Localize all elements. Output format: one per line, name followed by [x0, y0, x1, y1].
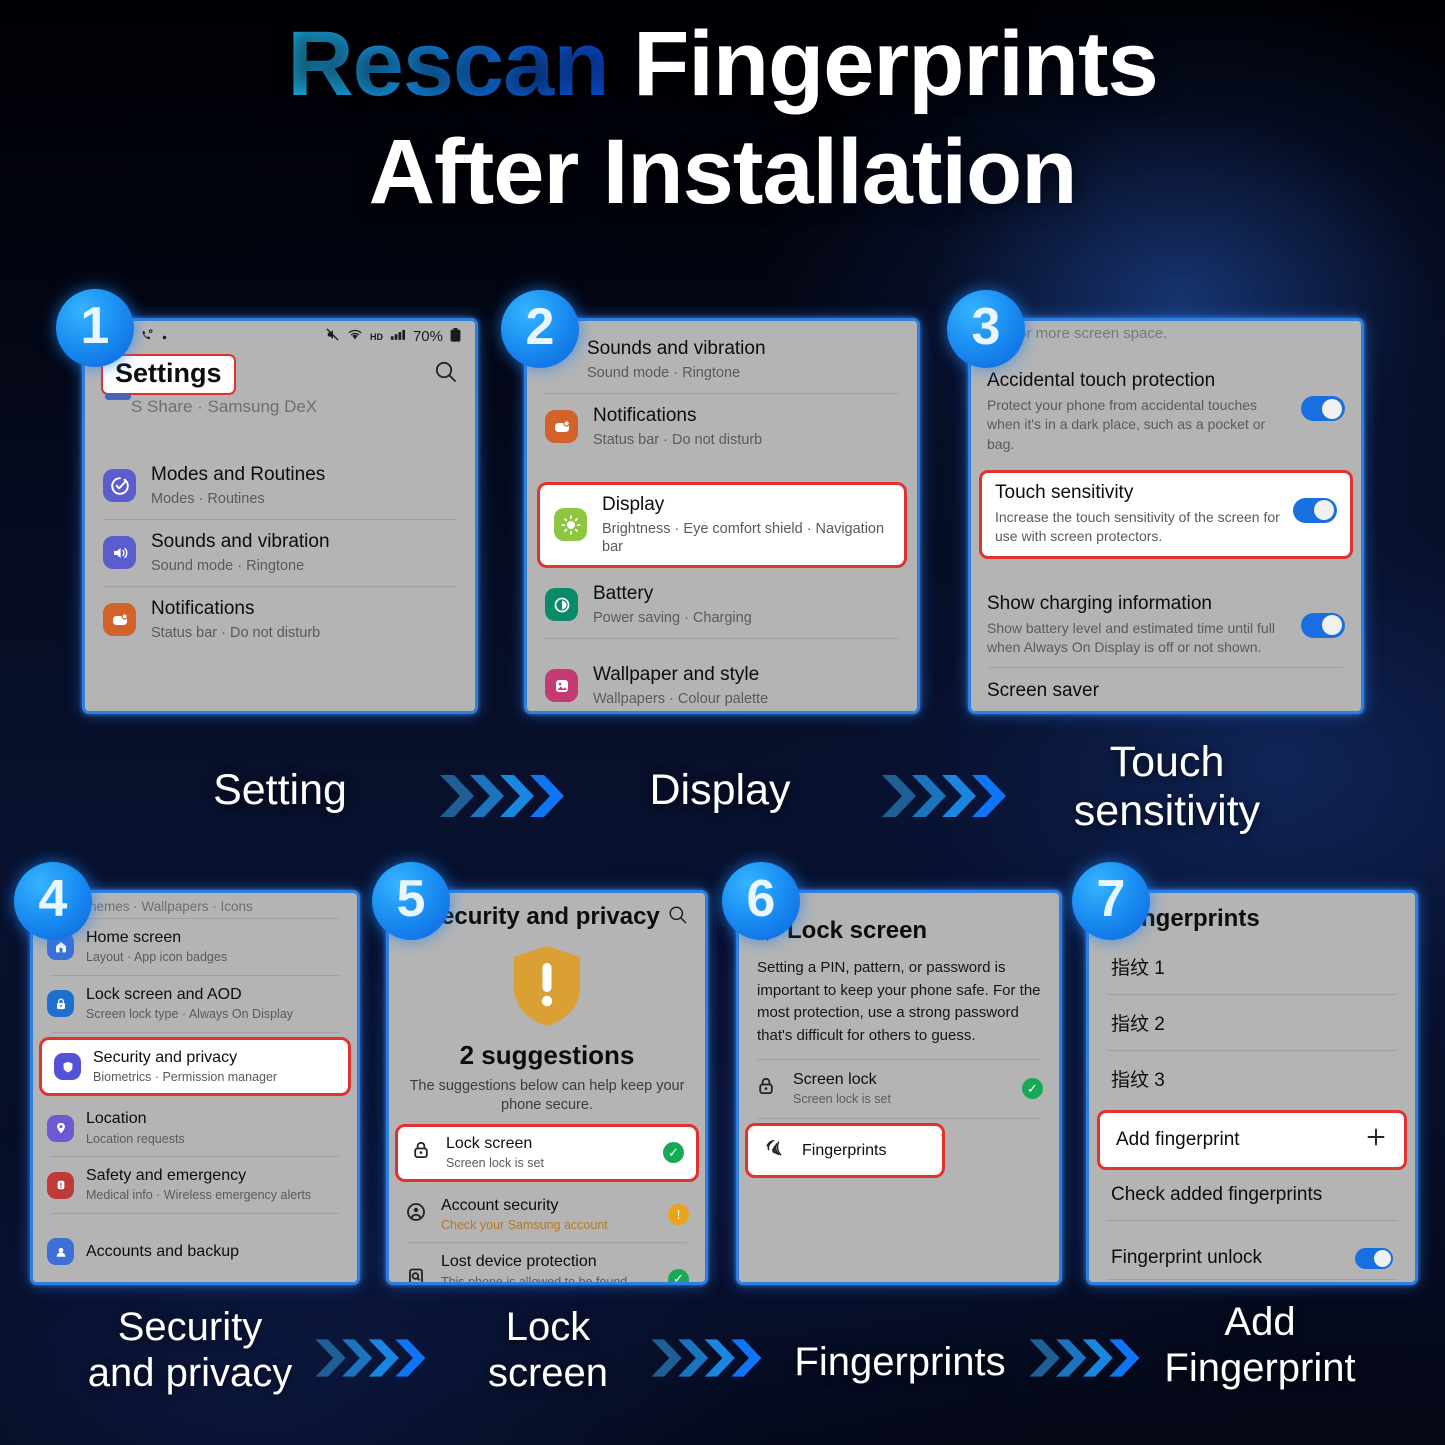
row-subtitle: Wallpapers · Colour palette	[593, 690, 899, 708]
add-fingerprint-label: Add fingerprint	[1116, 1129, 1240, 1151]
settings-row-notifications[interactable]: Notifications Status bar · Do not distur…	[85, 587, 475, 653]
row-title: Lock screen	[446, 1134, 649, 1153]
row-fingerprints-highlighted[interactable]: Fingerprints	[745, 1123, 945, 1178]
faded-row-label: S Share · Samsung DeX	[103, 397, 475, 417]
check-added-fingerprints-label: Check added fingerprints	[1111, 1184, 1322, 1206]
settings-row-modes[interactable]: Modes and Routines Modes · Routines	[85, 453, 475, 519]
row-subtitle: This phone is allowed to be found when l…	[441, 1275, 654, 1286]
fingerprint-icon	[762, 1136, 786, 1165]
row-subtitle: Screen lock type · Always On Display	[86, 1007, 343, 1023]
shield-icon	[54, 1053, 81, 1080]
settings-row-accounts-backup[interactable]: Accounts and backup	[33, 1232, 357, 1271]
partial-app-icon	[105, 393, 131, 400]
row-title: Screen lock	[793, 1070, 1006, 1089]
flow-arrow-1	[436, 767, 576, 825]
settings-row-lock-screen-aod[interactable]: Lock screen and AOD Screen lock type · A…	[33, 976, 357, 1032]
status-check-icon: ✓	[663, 1142, 684, 1163]
flow-arrow-4	[648, 1332, 772, 1384]
poster-title: Rescan Fingerprints After Installation	[0, 18, 1445, 218]
flow-label-add-fingerprint: Add Fingerprint	[1130, 1300, 1390, 1391]
fingerprint-item-1[interactable]: 指纹 1	[1089, 939, 1415, 994]
row-subtitle: Protect your phone from accidental touch…	[987, 396, 1289, 454]
row-subtitle: Check your Samsung account	[441, 1218, 654, 1234]
plus-icon[interactable]	[1364, 1125, 1388, 1155]
search-icon[interactable]	[667, 904, 689, 931]
row-title: Home screen	[86, 928, 343, 947]
find-device-icon	[405, 1266, 427, 1285]
screenshot-panel-3: res for more screen space. Accidental to…	[968, 318, 1364, 714]
suggestions-title: 2 suggestions	[403, 1040, 691, 1071]
settings-row-sounds[interactable]: Sounds and vibration Sound mode · Ringto…	[85, 520, 475, 586]
status-check-icon: ✓	[668, 1269, 689, 1285]
status-bar: HD 70%	[85, 321, 475, 348]
page-title: Settings	[101, 354, 236, 395]
row-title: Sounds and vibration	[151, 531, 457, 554]
step-badge-3: 3	[947, 290, 1025, 368]
flow-label-fingerprints: Fingerprints	[780, 1340, 1020, 1386]
settings-row-display-highlighted[interactable]: Display Brightness · Eye comfort shield …	[537, 482, 907, 568]
row-title: Security and privacy	[93, 1048, 336, 1067]
row-subtitle: Screen lock is set	[793, 1092, 1006, 1108]
poster-background: Rescan Fingerprints After Installation	[0, 0, 1445, 1445]
flow-label-security-and-privacy: Security and privacy	[40, 1305, 340, 1396]
row-subtitle: Show battery level and estimated time un…	[987, 619, 1289, 658]
fingerprint-label: 指纹 1	[1111, 953, 1165, 980]
chevron-right-triple-icon	[312, 1332, 436, 1384]
flow-label-setting: Setting	[140, 766, 420, 815]
chevron-right-triple-icon	[648, 1332, 772, 1384]
settings-row-wallpaper[interactable]: Wallpaper and style Wallpapers · Colour …	[527, 653, 917, 714]
screenshot-panel-4: hemes · Wallpapers · Icons Home screen L…	[30, 890, 360, 1285]
screenshot-panel-1: HD 70% Settings S Share ·	[82, 318, 478, 714]
chevron-right-triple-icon	[436, 767, 576, 825]
row-title: Touch sensitivity	[995, 482, 1281, 504]
row-subtitle: Increase the touch sensitivity of the sc…	[995, 508, 1281, 547]
emergency-icon	[47, 1172, 74, 1199]
row-subtitle: Sound mode · Ringtone	[587, 364, 899, 382]
toggle-row-fingerprint-always-on[interactable]: Fingerprint always on	[1089, 1280, 1415, 1285]
screenshot-panel-5: ecurity and privacy 2 suggestions The su…	[386, 890, 708, 1285]
page-title: ngerprints	[1141, 905, 1399, 933]
title-white-word: Fingerprints	[633, 13, 1158, 115]
fingerprint-label: 指纹 3	[1111, 1065, 1165, 1092]
fingerprint-unlock-label: Fingerprint unlock	[1111, 1247, 1262, 1269]
flow-label-touch-sensitivity: Touch sensitivity	[1022, 738, 1312, 836]
warning-shield-icon	[509, 1016, 585, 1033]
row-subtitle: Location requests	[86, 1132, 343, 1148]
step-badge-7: 7	[1072, 862, 1150, 940]
settings-row-sounds[interactable]: Sounds and vibration Sound mode · Ringto…	[527, 327, 917, 393]
battery-icon	[450, 328, 461, 346]
screenshot-panel-2: Sounds and vibration Sound mode · Ringto…	[524, 318, 920, 714]
title-line-2: After Installation	[0, 126, 1445, 218]
status-check-icon: ✓	[1022, 1078, 1043, 1099]
mute-icon	[325, 327, 340, 346]
fingerprint-item-3[interactable]: 指纹 3	[1089, 1051, 1415, 1106]
add-fingerprint-row-highlighted[interactable]: Add fingerprint	[1097, 1110, 1407, 1170]
account-icon	[405, 1201, 427, 1228]
search-icon[interactable]	[433, 359, 459, 390]
row-subtitle: Brightness · Eye comfort shield · Naviga…	[602, 520, 890, 556]
row-title: Lock screen and AOD	[86, 985, 343, 1004]
screenshot-panel-7: ngerprints 指纹 1 指纹 2 指纹 3 Add fingerprin…	[1086, 890, 1418, 1285]
lock-screen-description: Setting a PIN, pattern, or password is i…	[739, 949, 1059, 1059]
row-title: Accidental touch protection	[987, 370, 1289, 392]
suggestion-row-lock-screen-highlighted[interactable]: Lock screen Screen lock is set ✓	[395, 1124, 699, 1182]
settings-row-safety-emergency[interactable]: Safety and emergency Medical info · Wire…	[33, 1157, 357, 1213]
row-subtitle: Screen lock is set	[446, 1156, 649, 1172]
row-title: Notifications	[151, 598, 457, 621]
wallpaper-icon	[545, 669, 578, 702]
fingerprint-item-2[interactable]: 指纹 2	[1089, 995, 1415, 1050]
accidental-touch-toggle[interactable]	[1301, 396, 1345, 421]
step-badge-4: 4	[14, 862, 92, 940]
wifi-icon	[347, 328, 363, 345]
faded-top-text: res for more screen space.	[971, 321, 1361, 350]
row-title: Show charging information	[987, 593, 1289, 615]
lock-outline-icon	[755, 1075, 777, 1102]
toggle-row-show-charging-information[interactable]: Show charging information Show battery l…	[971, 583, 1361, 668]
hd-icon: HD	[370, 332, 383, 342]
flow-arrow-3	[312, 1332, 436, 1384]
row-subtitle: Modes · Routines	[151, 490, 457, 508]
dot-icon	[161, 329, 168, 344]
row-title: Modes and Routines	[151, 464, 457, 487]
accounts-icon	[47, 1238, 74, 1265]
flow-arrow-2	[878, 767, 1018, 825]
row-title: Account security	[441, 1196, 654, 1215]
row-title: Sounds and vibration	[587, 338, 899, 361]
row-title: Accounts and backup	[86, 1242, 343, 1261]
row-title: Fingerprints	[802, 1141, 928, 1160]
toggle-row-fingerprint-unlock[interactable]: Fingerprint unlock	[1089, 1237, 1415, 1279]
toggle-row-accidental-touch-protection[interactable]: Accidental touch protection Protect your…	[971, 360, 1361, 464]
suggestion-row-account-security[interactable]: Account security Check your Samsung acco…	[389, 1187, 705, 1243]
location-pin-icon	[47, 1115, 74, 1142]
fingerprint-unlock-toggle[interactable]	[1355, 1248, 1393, 1269]
step-badge-6: 6	[722, 862, 800, 940]
flow-label-display: Display	[580, 766, 860, 815]
settings-row-location[interactable]: Location Location requests	[33, 1100, 357, 1156]
row-subtitle: Biometrics · Permission manager	[93, 1070, 336, 1086]
check-added-fingerprints-row[interactable]: Check added fingerprints	[1089, 1174, 1415, 1220]
display-icon	[554, 508, 587, 541]
row-screen-lock[interactable]: Screen lock Screen lock is set ✓	[739, 1060, 1059, 1118]
status-warning-icon: !	[668, 1204, 689, 1225]
show-charging-info-toggle[interactable]	[1301, 613, 1345, 638]
step-badge-5: 5	[372, 862, 450, 940]
row-subtitle: Status bar · Do not disturb	[593, 431, 899, 449]
call-location-icon	[140, 328, 154, 345]
row-title: Safety and emergency	[86, 1166, 343, 1185]
row-subtitle: Layout · App icon badges	[86, 950, 343, 966]
notifications-icon	[545, 410, 578, 443]
settings-row-security-privacy-highlighted[interactable]: Security and privacy Biometrics · Permis…	[39, 1037, 351, 1097]
divider	[757, 1118, 1041, 1119]
notifications-icon	[103, 603, 136, 636]
chevron-right-triple-icon	[878, 767, 1018, 825]
screenshot-panel-6: Lock screen Setting a PIN, pattern, or p…	[736, 890, 1062, 1285]
row-title: Notifications	[593, 405, 899, 428]
row-subtitle: Medical info · Wireless emergency alerts	[86, 1188, 343, 1204]
row-subtitle: Status bar · Do not disturb	[151, 624, 457, 642]
step-badge-2: 2	[501, 290, 579, 368]
row-title: Battery	[593, 583, 899, 606]
suggestions-subtitle: The suggestions below can help keep your…	[403, 1077, 691, 1115]
lock-outline-icon	[410, 1139, 432, 1166]
modes-icon	[103, 469, 136, 502]
fingerprint-label: 指纹 2	[1111, 1009, 1165, 1036]
settings-row-notifications[interactable]: Notifications Status bar · Do not distur…	[527, 394, 917, 460]
settings-row-battery[interactable]: Battery Power saving · Charging	[527, 572, 917, 638]
title-accent-word: Rescan	[287, 13, 608, 115]
row-title: Wallpaper and style	[593, 664, 899, 687]
lock-icon	[47, 990, 74, 1017]
row-subtitle: Sound mode · Ringtone	[151, 557, 457, 575]
signal-icon	[390, 328, 406, 345]
divider	[51, 1032, 339, 1033]
sound-icon	[103, 536, 136, 569]
row-subtitle: Power saving · Charging	[593, 609, 899, 627]
step-badge-1: 1	[56, 289, 134, 367]
row-title: Location	[86, 1109, 343, 1128]
battery-app-icon	[545, 588, 578, 621]
page-title: ecurity and privacy	[441, 903, 660, 931]
page-title: Lock screen	[787, 917, 927, 945]
row-title-screen-saver[interactable]: Screen saver	[971, 668, 1361, 714]
toggle-row-touch-sensitivity-highlighted[interactable]: Touch sensitivity Increase the touch sen…	[979, 470, 1353, 559]
touch-sensitivity-toggle[interactable]	[1293, 498, 1337, 523]
row-title: Lost device protection	[441, 1252, 654, 1271]
row-title: Display	[602, 494, 890, 517]
battery-percent: 70%	[413, 328, 443, 345]
suggestion-row-lost-device-protection[interactable]: Lost device protection This phone is all…	[389, 1243, 705, 1285]
flow-label-lock-screen: Lock screen	[448, 1305, 648, 1396]
